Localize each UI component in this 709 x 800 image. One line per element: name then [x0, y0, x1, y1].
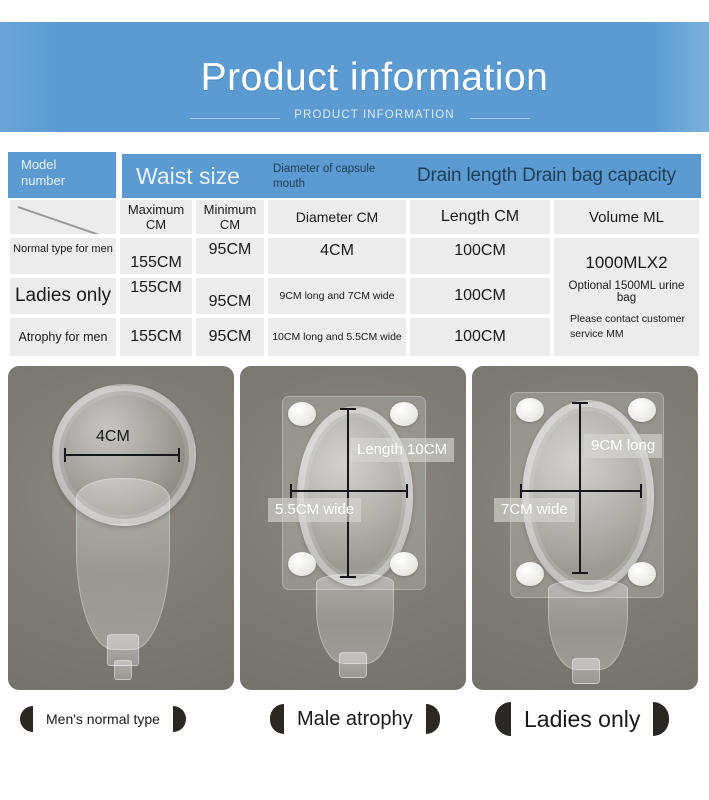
header-drain: Drain length Drain bag capacity: [408, 154, 701, 198]
dimension-tick-top: [572, 402, 588, 404]
product-card-ladies-only[interactable]: 9CM long 7CM wide: [472, 366, 698, 690]
dimension-line-length: [579, 402, 581, 574]
corner-pad-bottom-right: [628, 562, 656, 586]
caption-label: Ladies only: [511, 706, 653, 733]
product-card-male-atrophy[interactable]: Length 10CM 5.5CM wide: [240, 366, 466, 690]
bracket-left-icon: [270, 704, 284, 734]
table-row: Atrophy for men: [8, 316, 118, 358]
annotation-4cm: 4CM: [96, 428, 130, 446]
spec-table: Model number Waist size Diameter of caps…: [8, 150, 701, 358]
caption-ladies-only: Ladies only: [495, 697, 669, 741]
table-row: Ladies only: [8, 276, 118, 316]
funnel-body: [548, 580, 628, 670]
dimension-tick-right: [178, 448, 180, 462]
volume-line3: Please contact customer service MM: [560, 312, 693, 340]
product-photo-mens-normal: 4CM: [8, 366, 234, 690]
subheader-diameter: Diameter CM: [266, 198, 408, 236]
dimension-tick-left: [520, 484, 522, 498]
cell-row2-length: 100CM: [408, 276, 552, 316]
header-model-number-line1: Model: [21, 157, 116, 173]
product-card-mens-normal[interactable]: 4CM: [8, 366, 234, 690]
funnel-spout: [572, 658, 600, 684]
page-title: Product information: [0, 58, 709, 97]
caption-mens-normal: Men's normal type: [20, 697, 186, 741]
header-model-number-line2: number: [21, 173, 116, 189]
annotation-5-5cm-wide: 5.5CM wide: [268, 498, 361, 522]
dimension-tick-left: [64, 448, 66, 462]
annotation-7cm-wide: 7CM wide: [494, 498, 575, 522]
dimension-line-4cm: [64, 454, 180, 456]
product-captions: Men's normal type Male atrophy Ladies on…: [0, 697, 709, 743]
bracket-left-icon: [20, 706, 33, 732]
cell-row2-diameter: 9CM long and 7CM wide: [266, 276, 408, 316]
cell-row1-maximum: 155CM: [118, 236, 194, 276]
page-subtitle: PRODUCT INFORMATION: [0, 110, 709, 122]
cell-row3-diameter: 10CM long and 5.5CM wide: [266, 316, 408, 358]
caption-label: Male atrophy: [284, 708, 426, 731]
caption-male-atrophy: Male atrophy: [270, 697, 440, 741]
subheader-volume: Volume ML: [552, 198, 701, 236]
product-gallery: 4CM Length 10CM 5.5CM wide: [0, 366, 709, 690]
subheader-minimum: Minimum CM: [194, 198, 266, 236]
product-photo-male-atrophy: Length 10CM 5.5CM wide: [240, 366, 466, 690]
cell-row3-maximum: 155CM: [118, 316, 194, 358]
product-photo-ladies-only: 9CM long 7CM wide: [472, 366, 698, 690]
annotation-9cm-long: 9CM long: [584, 434, 662, 458]
corner-pad-top-left: [516, 398, 544, 422]
table-header-row: Model number Waist size Diameter of caps…: [8, 150, 701, 198]
bracket-right-icon: [653, 702, 669, 736]
cell-row1-diameter: 4CM: [266, 236, 408, 276]
dimension-tick-bottom: [340, 576, 356, 578]
header-capsule-mouth-line2: mouth: [273, 177, 408, 192]
header-model-number: Model number: [8, 152, 118, 198]
bracket-right-icon: [173, 706, 186, 732]
funnel-spout: [339, 652, 367, 678]
dimension-line-width: [290, 490, 408, 492]
funnel-spout-tip: [114, 660, 132, 680]
bracket-left-icon: [495, 702, 511, 736]
dimension-line-length: [347, 408, 349, 578]
dimension-tick-right: [406, 484, 408, 498]
volume-line2: Optional 1500ML urine bag: [560, 280, 693, 304]
dimension-tick-bottom: [572, 572, 588, 574]
subheader-model-slash: [8, 198, 118, 236]
cell-row2-maximum: 155CM: [118, 276, 194, 316]
dimension-tick-right: [640, 484, 642, 498]
page-banner: Product information PRODUCT INFORMATION: [0, 22, 709, 132]
cell-row3-minimum: 95CM: [194, 316, 266, 358]
bracket-right-icon: [426, 704, 440, 734]
dimension-tick-top: [340, 408, 356, 410]
corner-pad-top-right: [390, 402, 418, 426]
corner-pad-bottom-left: [516, 562, 544, 586]
volume-line1: 1000MLX2: [585, 253, 667, 273]
table-row: Normal type for men: [8, 236, 118, 276]
cell-row2-minimum: 95CM: [194, 276, 266, 316]
caption-label: Men's normal type: [33, 711, 173, 727]
dimension-line-width: [520, 490, 642, 492]
annotation-length-10cm: Length 10CM: [350, 438, 454, 462]
subheader-length: Length CM: [408, 198, 552, 236]
table-body: Maximum CM Minimum CM Diameter CM Length…: [8, 198, 701, 358]
cell-volume-merged: 1000MLX2 Optional 1500ML urine bag Pleas…: [552, 236, 701, 358]
corner-pad-bottom-left: [288, 552, 316, 576]
corner-pad-top-right: [628, 398, 656, 422]
header-capsule-mouth: Diameter of capsule mouth: [265, 154, 408, 198]
dimension-tick-left: [290, 484, 292, 498]
header-capsule-mouth-line1: Diameter of capsule: [273, 162, 408, 177]
cell-row1-minimum: 95CM: [194, 236, 266, 276]
corner-pad-bottom-right: [390, 552, 418, 576]
cell-row3-length: 100CM: [408, 316, 552, 358]
funnel-body: [316, 574, 394, 664]
cell-row1-length: 100CM: [408, 236, 552, 276]
subheader-maximum: Maximum CM: [118, 198, 194, 236]
header-waist-size: Waist size: [122, 154, 265, 198]
product-information-page: Product information PRODUCT INFORMATION …: [0, 0, 709, 800]
corner-pad-top-left: [288, 402, 316, 426]
